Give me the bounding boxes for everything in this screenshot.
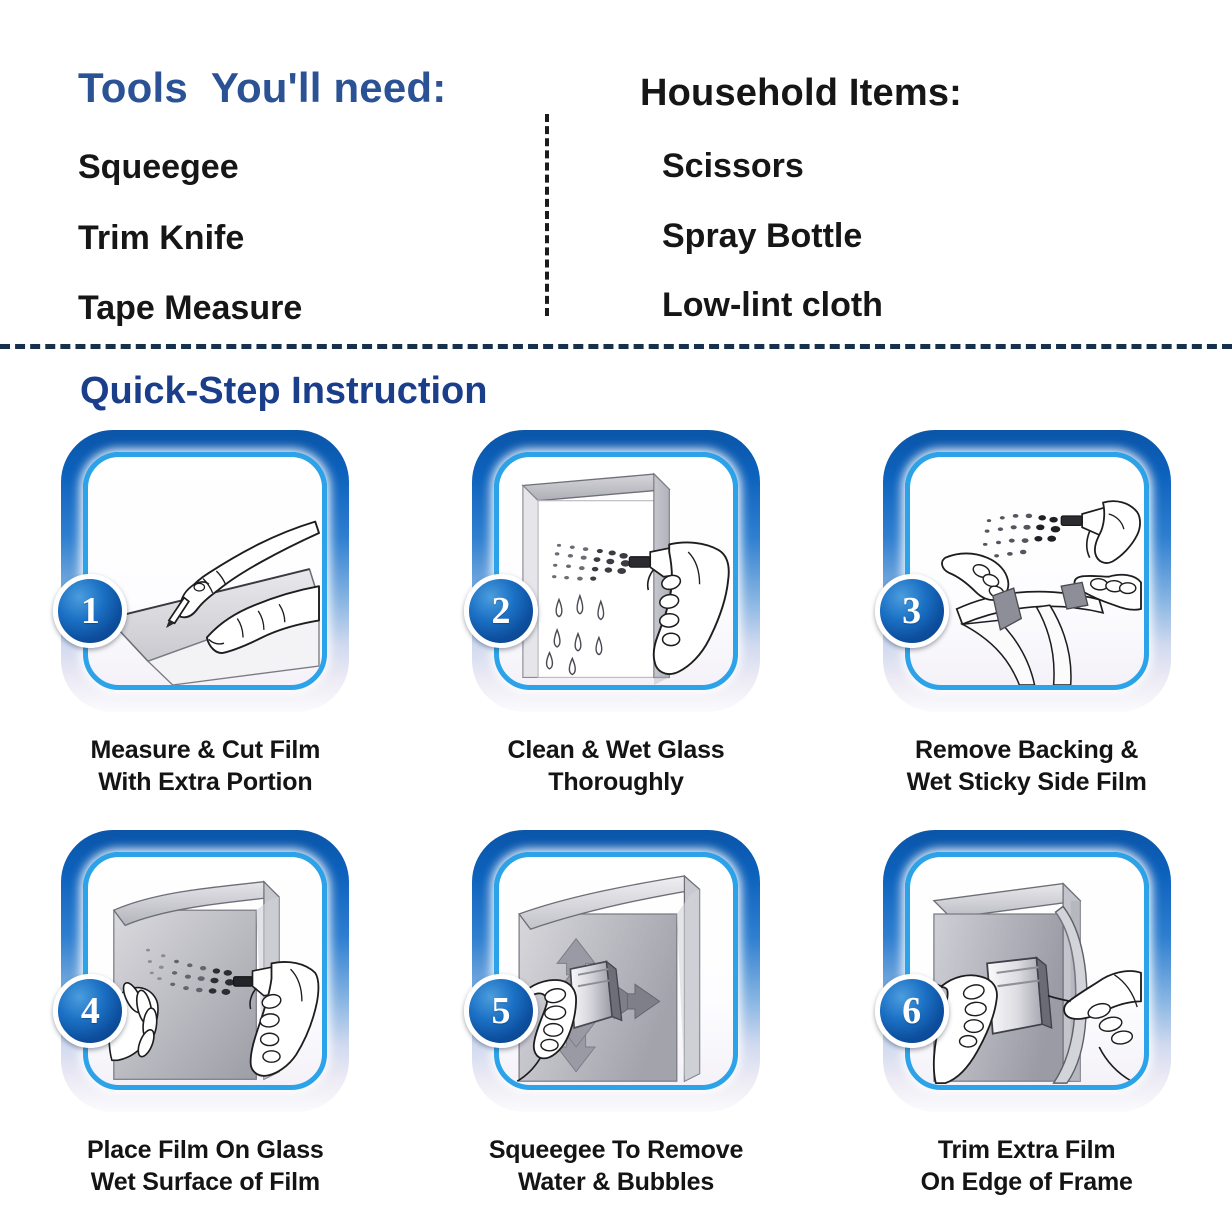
step-cell-5: 5 Squeegee To Remove Water & Bubbles — [411, 830, 822, 1230]
step-badge-4: 4 — [53, 974, 127, 1048]
quick-step-grid: 1 Measure & Cut Film With Extra Portion — [0, 430, 1232, 1230]
vertical-dashed-divider — [545, 114, 549, 316]
step-number-3: 3 — [902, 592, 921, 630]
tools-section: Tools You'll need: Squeegee Trim Knife T… — [0, 0, 1232, 346]
step-caption-1: Measure & Cut Film With Extra Portion — [90, 734, 320, 798]
step-caption-4: Place Film On Glass Wet Surface of Film — [87, 1134, 324, 1198]
household-items-heading: Household Items: — [640, 72, 1160, 115]
household-item-scissors: Scissors — [662, 149, 1160, 185]
hands-peeling-backing-spray-icon — [910, 457, 1144, 685]
step-panel-1: 1 — [61, 430, 349, 712]
step-badge-6: 6 — [875, 974, 949, 1048]
tool-item-squeegee: Squeegee — [78, 150, 518, 186]
step-number-2: 2 — [491, 592, 510, 630]
household-item-spray-bottle: Spray Bottle — [662, 219, 1160, 255]
step-badge-5: 5 — [464, 974, 538, 1048]
horizontal-dashed-divider — [0, 344, 1232, 349]
step-number-1: 1 — [81, 592, 100, 630]
hand-spraying-window-icon — [499, 457, 733, 685]
hands-cutting-film-icon — [88, 457, 322, 685]
hand-placing-film-spray-icon — [88, 857, 322, 1085]
household-items-column: Household Items: Scissors Spray Bottle L… — [640, 72, 1160, 358]
step-badge-1: 1 — [53, 574, 127, 648]
step-cell-2: 2 Clean & Wet Glass Thoroughly — [411, 430, 822, 830]
step-illustration-1 — [83, 452, 327, 690]
step-caption-6: Trim Extra Film On Edge of Frame — [921, 1134, 1133, 1198]
step-illustration-6 — [905, 852, 1149, 1090]
step-illustration-2 — [494, 452, 738, 690]
tools-column: Tools You'll need: Squeegee Trim Knife T… — [78, 64, 518, 362]
tools-heading: Tools You'll need: — [78, 64, 518, 112]
hand-squeegee-arrows-icon — [499, 857, 733, 1085]
step-caption-5: Squeegee To Remove Water & Bubbles — [489, 1134, 743, 1198]
step-panel-5: 5 — [472, 830, 760, 1112]
step-cell-4: 4 Place Film On Glass Wet Surface of Fil… — [0, 830, 411, 1230]
step-number-4: 4 — [81, 992, 100, 1030]
step-cell-1: 1 Measure & Cut Film With Extra Portion — [0, 430, 411, 830]
household-item-low-lint-cloth: Low-lint cloth — [662, 288, 1160, 324]
step-badge-2: 2 — [464, 574, 538, 648]
step-number-6: 6 — [902, 992, 921, 1030]
step-illustration-4 — [83, 852, 327, 1090]
step-cell-3: 3 Remove Backing & Wet Sticky Side Film — [821, 430, 1232, 830]
step-caption-3: Remove Backing & Wet Sticky Side Film — [907, 734, 1147, 798]
step-illustration-5 — [494, 852, 738, 1090]
step-panel-2: 2 — [472, 430, 760, 712]
hands-trimming-edge-icon — [910, 857, 1144, 1085]
quick-step-instruction-heading: Quick-Step Instruction — [80, 370, 487, 413]
step-panel-6: 6 — [883, 830, 1171, 1112]
tool-item-trim-knife: Trim Knife — [78, 221, 518, 257]
step-panel-3: 3 — [883, 430, 1171, 712]
step-illustration-3 — [905, 452, 1149, 690]
step-badge-3: 3 — [875, 574, 949, 648]
tool-item-tape-measure: Tape Measure — [78, 291, 518, 327]
step-panel-4: 4 — [61, 830, 349, 1112]
step-cell-6: 6 Trim Extra Film On Edge of Frame — [821, 830, 1232, 1230]
step-caption-2: Clean & Wet Glass Thoroughly — [507, 734, 724, 798]
step-number-5: 5 — [491, 992, 510, 1030]
